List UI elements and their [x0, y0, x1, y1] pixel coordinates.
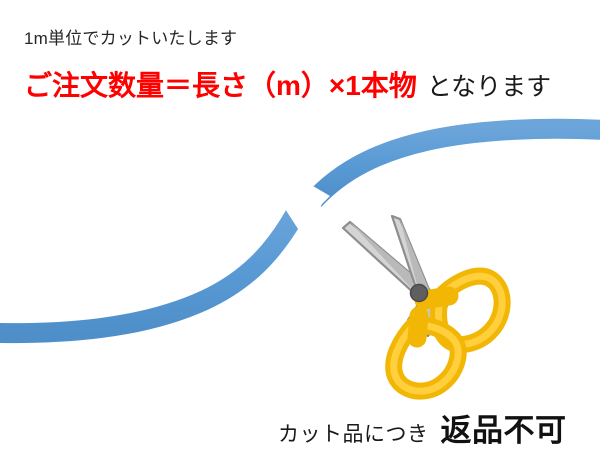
- illustration-canvas: 1m単位でカットいたします ご注文数量＝長さ（m）×1本物となります カット品に…: [0, 0, 600, 466]
- order-formula-highlight: ご注文数量＝長さ（m）×1本物: [24, 70, 417, 101]
- order-formula-note: ご注文数量＝長さ（m）×1本物となります: [24, 72, 551, 100]
- no-return-prefix: カット品につき: [278, 423, 429, 446]
- cut-unit-note: 1m単位でカットいたします: [24, 30, 237, 47]
- scissors-pivot: [411, 285, 428, 302]
- no-return-note: カット品につき返品不可: [278, 415, 567, 446]
- no-return-emphasis: 返品不可: [441, 413, 567, 448]
- scissors-handle-left: [394, 316, 458, 391]
- order-formula-tail: となります: [427, 73, 551, 101]
